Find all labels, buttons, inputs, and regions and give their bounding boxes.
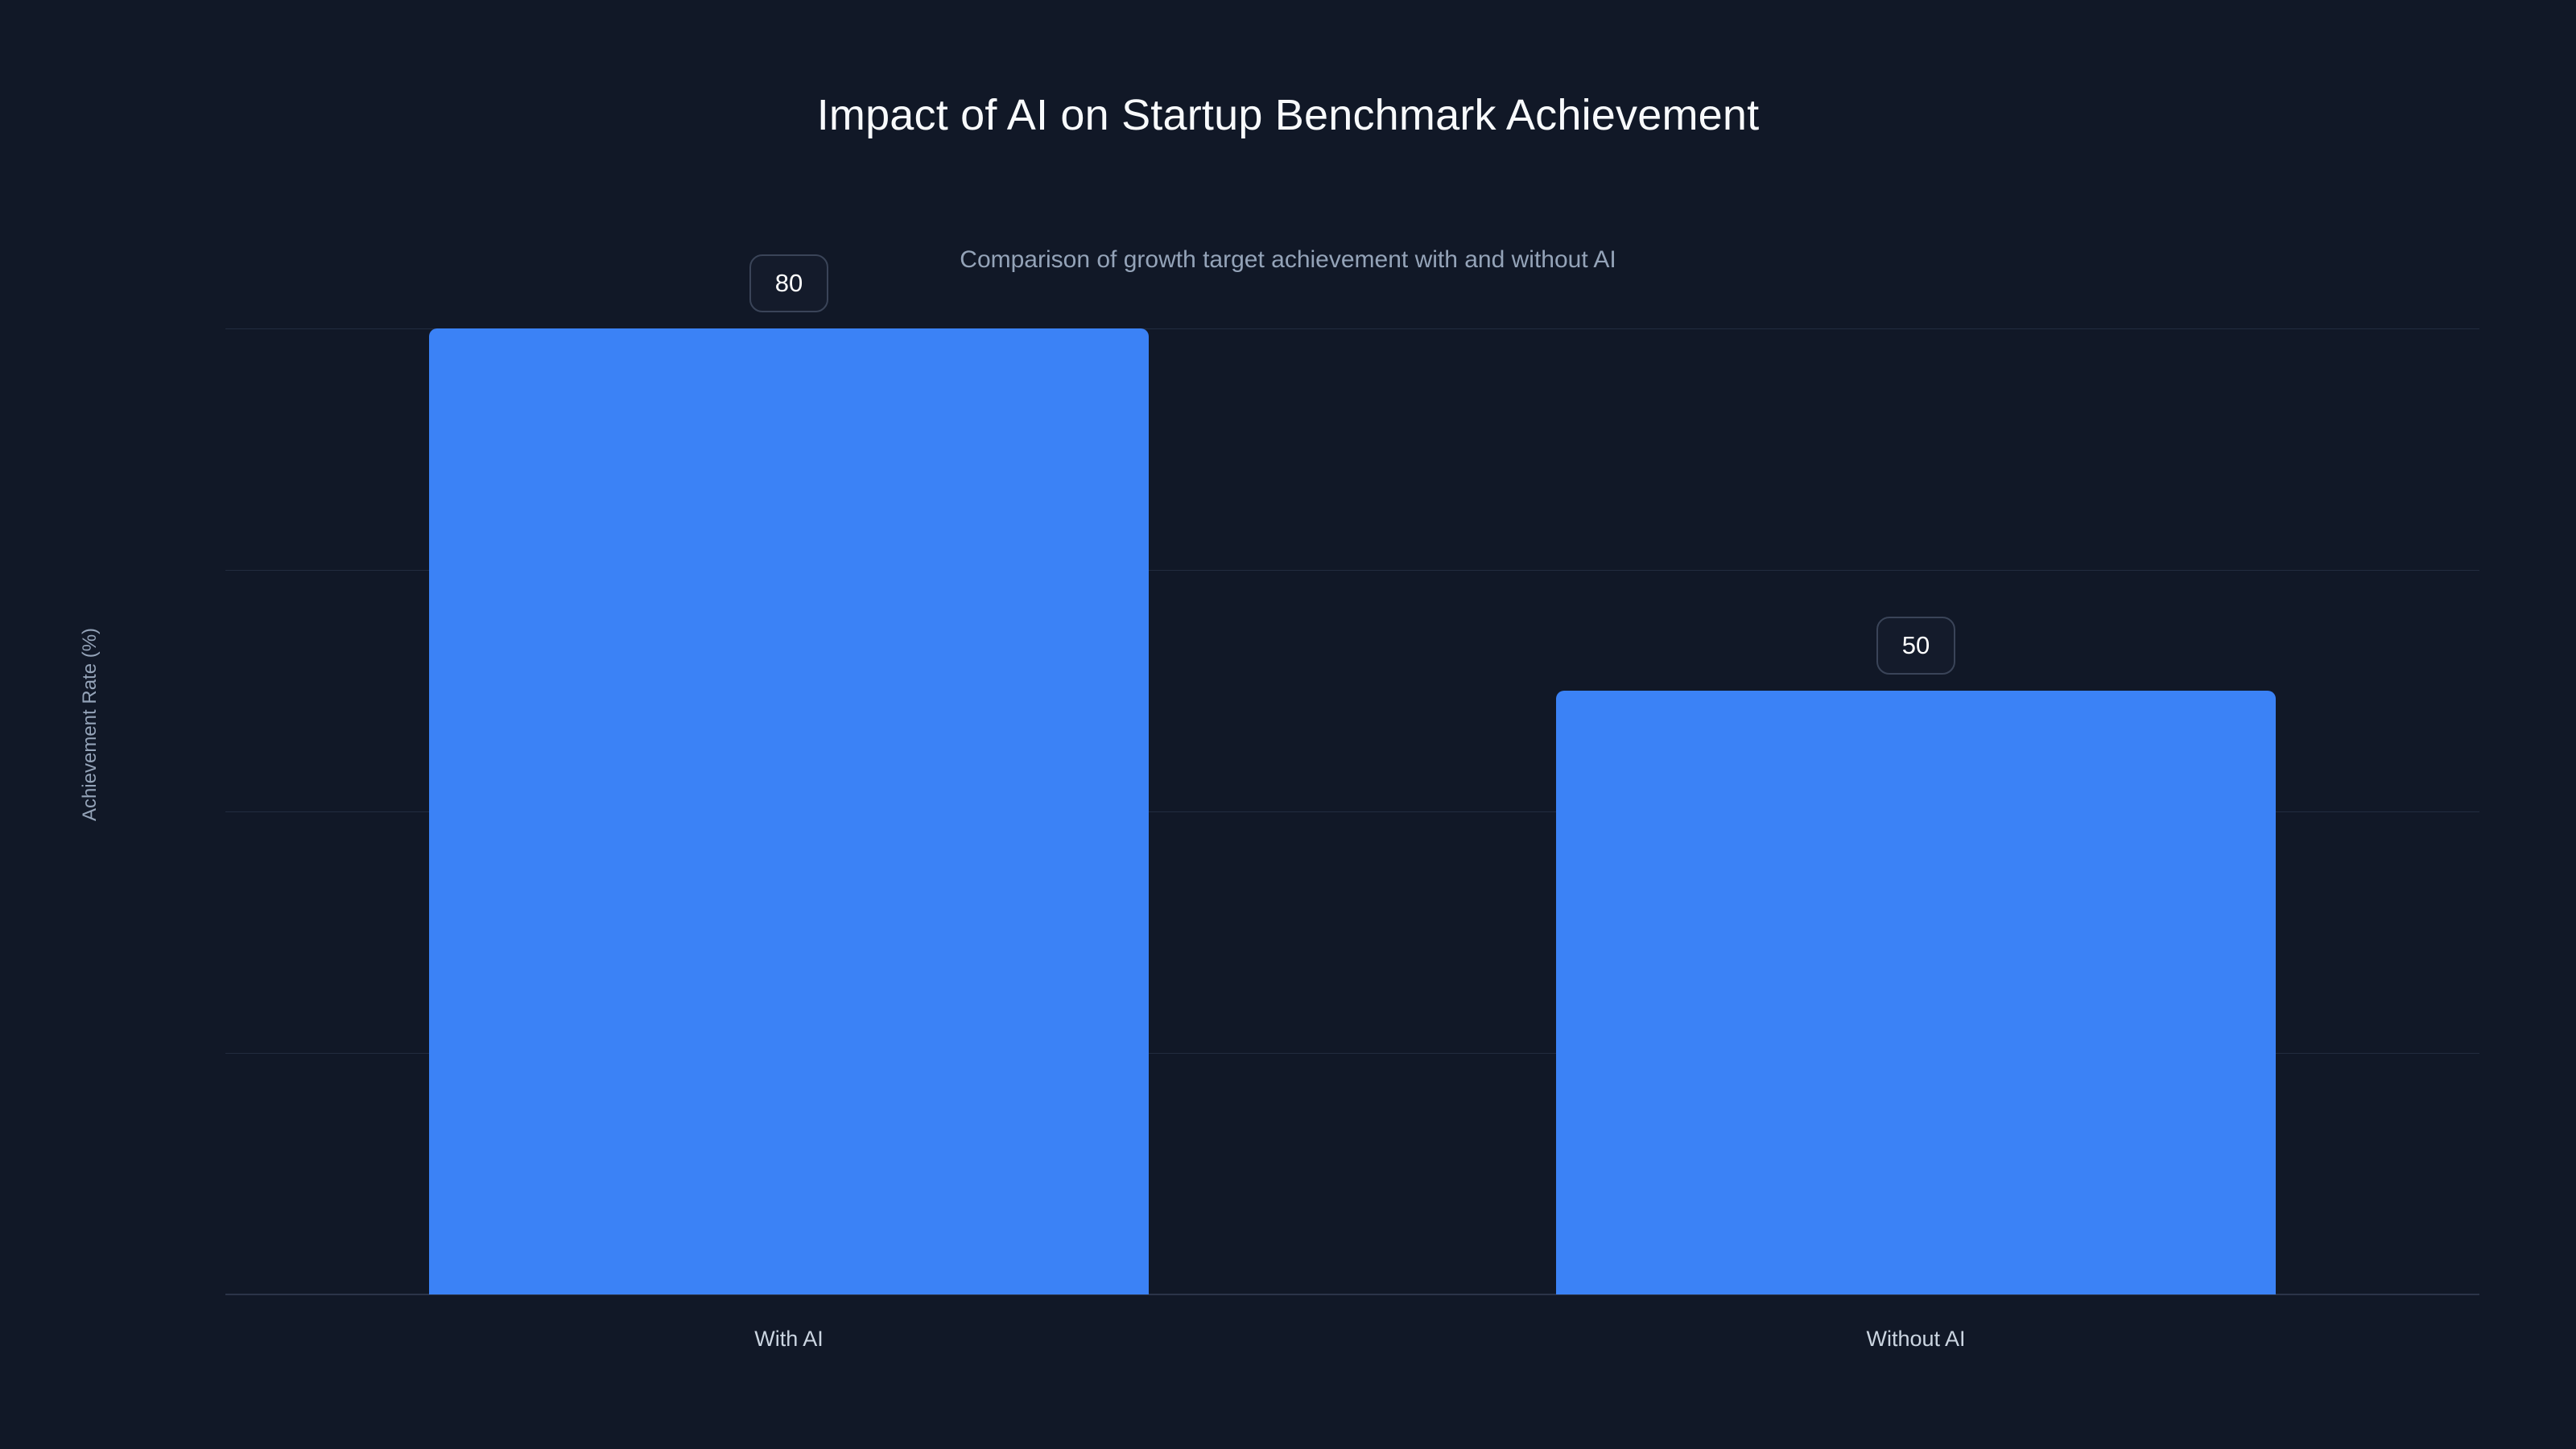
bar-without-ai[interactable] xyxy=(1556,691,2277,1294)
chart-subtitle: Comparison of growth target achievement … xyxy=(0,246,2576,274)
value-badge-without-ai[interactable]: 50 xyxy=(1876,617,1955,675)
x-tick-label-without-ai: Without AI xyxy=(1866,1327,1965,1352)
y-axis-label: Achievement Rate (%) xyxy=(79,628,101,821)
x-tick-label-with-ai: With AI xyxy=(754,1327,824,1352)
value-badge-with-ai[interactable]: 80 xyxy=(749,254,828,312)
plot-area xyxy=(225,328,2479,1294)
bar-with-ai[interactable] xyxy=(429,328,1150,1294)
bar-chart-figure: Impact of AI on Startup Benchmark Achiev… xyxy=(0,0,2576,1449)
chart-title: Impact of AI on Startup Benchmark Achiev… xyxy=(0,90,2576,140)
